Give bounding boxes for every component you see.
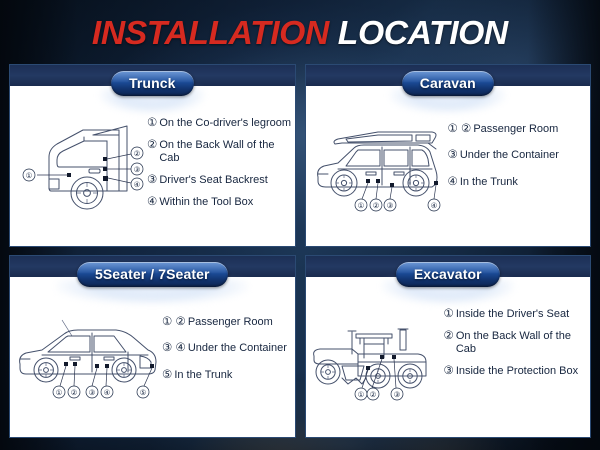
svg-text:③: ③ xyxy=(393,390,400,399)
panel-badge-sedan[interactable]: 5Seater / 7Seater xyxy=(77,262,228,287)
spec-number: ① xyxy=(147,117,157,130)
spec-item: ① ② Passenger Room xyxy=(448,123,589,136)
svg-text:④: ④ xyxy=(430,201,437,210)
truck-cab-icon: ① ② ③ ④ xyxy=(15,113,145,213)
spec-item: ③ Inside the Protection Box xyxy=(444,365,589,378)
panel-badge-excavator[interactable]: Excavator xyxy=(396,262,500,287)
spec-number: ③ ④ xyxy=(162,342,186,355)
svg-text:③: ③ xyxy=(89,388,96,397)
vehicle-illustration-cell: ① ② ③ ④ xyxy=(10,109,145,213)
spec-item: ① ② Passenger Room xyxy=(162,316,293,329)
panel-body: ① ② ③ ④ ⑤ ① ② Passe xyxy=(10,300,295,437)
spec-text: On the Back Wall of the Cab xyxy=(456,330,588,356)
svg-text:④: ④ xyxy=(104,388,111,397)
panel-grid: Trunck xyxy=(9,64,591,438)
svg-text:②: ② xyxy=(372,201,379,210)
spec-text: Passenger Room xyxy=(473,123,588,136)
spec-number: ③ xyxy=(444,365,454,378)
spec-number: ④ xyxy=(147,196,157,209)
svg-text:①: ① xyxy=(357,201,364,210)
spec-text: Under the Container xyxy=(188,342,293,355)
svg-text:②: ② xyxy=(71,388,78,397)
vehicle-illustration-cell: ① ② ③ ④ xyxy=(306,109,448,215)
spec-text: On the Co-driver's legroom xyxy=(159,117,292,130)
panel-badge-wrap: Trunck xyxy=(10,71,295,96)
spec-number: ① xyxy=(444,308,454,321)
grader-excavator-icon: ① ② ③ xyxy=(308,310,444,404)
vehicle-illustration-cell: ① ② ③ xyxy=(306,300,444,404)
spec-number: ② xyxy=(444,330,454,343)
spec-list-caravan: ① ② Passenger Room ③ Under the Container… xyxy=(448,123,589,189)
panel-badge-wrap: Caravan xyxy=(306,71,591,96)
page-title-primary: INSTALLATION xyxy=(92,14,329,51)
svg-text:④: ④ xyxy=(133,180,140,189)
panel-badge-wrap: 5Seater / 7Seater xyxy=(10,262,295,287)
svg-text:⑤: ⑤ xyxy=(140,388,147,397)
spec-number: ② xyxy=(147,139,157,152)
spec-number: ③ xyxy=(147,174,157,187)
spec-text: Within the Tool Box xyxy=(159,196,292,209)
infographic-root: INSTALLATION LOCATION Trunck xyxy=(0,0,600,450)
vehicle-illustration-cell: ① ② ③ ④ ⑤ xyxy=(10,300,162,406)
spec-number: ③ xyxy=(448,149,458,162)
svg-text:①: ① xyxy=(25,171,32,180)
suv-caravan-icon: ① ② ③ ④ xyxy=(308,119,448,215)
page-header: INSTALLATION LOCATION xyxy=(0,0,600,62)
svg-text:②: ② xyxy=(369,390,376,399)
spec-list-excavator: ① Inside the Driver's Seat ② On the Back… xyxy=(444,308,589,378)
spec-text: In the Trunk xyxy=(174,369,292,382)
spec-number: ① ② xyxy=(448,123,472,136)
spec-item: ③ Under the Container xyxy=(448,149,589,162)
panel-badge-caravan[interactable]: Caravan xyxy=(402,71,494,96)
spec-number: ① ② xyxy=(162,316,186,329)
spec-text: Inside the Protection Box xyxy=(456,365,588,378)
spec-item: ① On the Co-driver's legroom xyxy=(147,117,293,130)
spec-item: ② On the Back Wall of the Cab xyxy=(147,139,293,165)
page-title: INSTALLATION LOCATION xyxy=(92,14,508,52)
spec-list-cell: ① ② Passenger Room ③ Under the Container… xyxy=(448,109,591,202)
sedan-car-icon: ① ② ③ ④ ⑤ xyxy=(12,312,162,406)
panel-badge-truck[interactable]: Trunck xyxy=(111,71,194,96)
panel-caravan[interactable]: Caravan xyxy=(305,64,592,247)
spec-item: ⑤ In the Trunk xyxy=(162,369,293,382)
panel-truck[interactable]: Trunck xyxy=(9,64,296,247)
spec-list-sedan: ① ② Passenger Room ③ ④ Under the Contain… xyxy=(162,316,293,382)
spec-text: On the Back Wall of the Cab xyxy=(159,139,292,165)
spec-list-cell: ① Inside the Driver's Seat ② On the Back… xyxy=(444,300,591,378)
spec-text: Driver's Seat Backrest xyxy=(159,174,292,187)
panel-body: ① ② ③ ④ xyxy=(10,109,295,246)
spec-text: Passenger Room xyxy=(188,316,293,329)
spec-item: ③ ④ Under the Container xyxy=(162,342,293,355)
spec-text: Inside the Driver's Seat xyxy=(456,308,588,321)
spec-number: ⑤ xyxy=(162,369,172,382)
spec-text: In the Trunk xyxy=(460,176,588,189)
spec-list-truck: ① On the Co-driver's legroom ② On the Ba… xyxy=(147,117,293,209)
spec-item: ④ In the Trunk xyxy=(448,176,589,189)
svg-text:①: ① xyxy=(357,390,364,399)
panel-excavator[interactable]: Excavator xyxy=(305,255,592,438)
spec-list-cell: ① ② Passenger Room ③ ④ Under the Contain… xyxy=(162,300,295,395)
spec-item: ③ Driver's Seat Backrest xyxy=(147,174,293,187)
spec-text: Under the Container xyxy=(460,149,588,162)
panel-body: ① ② ③ ① Inside the Driver's Seat xyxy=(306,300,591,437)
spec-number: ④ xyxy=(448,176,458,189)
panel-sedan[interactable]: 5Seater / 7Seater xyxy=(9,255,296,438)
panel-body: ① ② ③ ④ ① ② Passenger Room xyxy=(306,109,591,246)
spec-item: ② On the Back Wall of the Cab xyxy=(444,330,589,356)
panel-badge-wrap: Excavator xyxy=(306,262,591,287)
svg-text:③: ③ xyxy=(386,201,393,210)
spec-item: ① Inside the Driver's Seat xyxy=(444,308,589,321)
page-title-secondary: LOCATION xyxy=(338,14,508,51)
svg-text:①: ① xyxy=(56,388,63,397)
spec-item: ④ Within the Tool Box xyxy=(147,196,293,209)
svg-text:③: ③ xyxy=(133,165,140,174)
svg-text:②: ② xyxy=(133,149,140,158)
spec-list-cell: ① On the Co-driver's legroom ② On the Ba… xyxy=(145,109,295,209)
